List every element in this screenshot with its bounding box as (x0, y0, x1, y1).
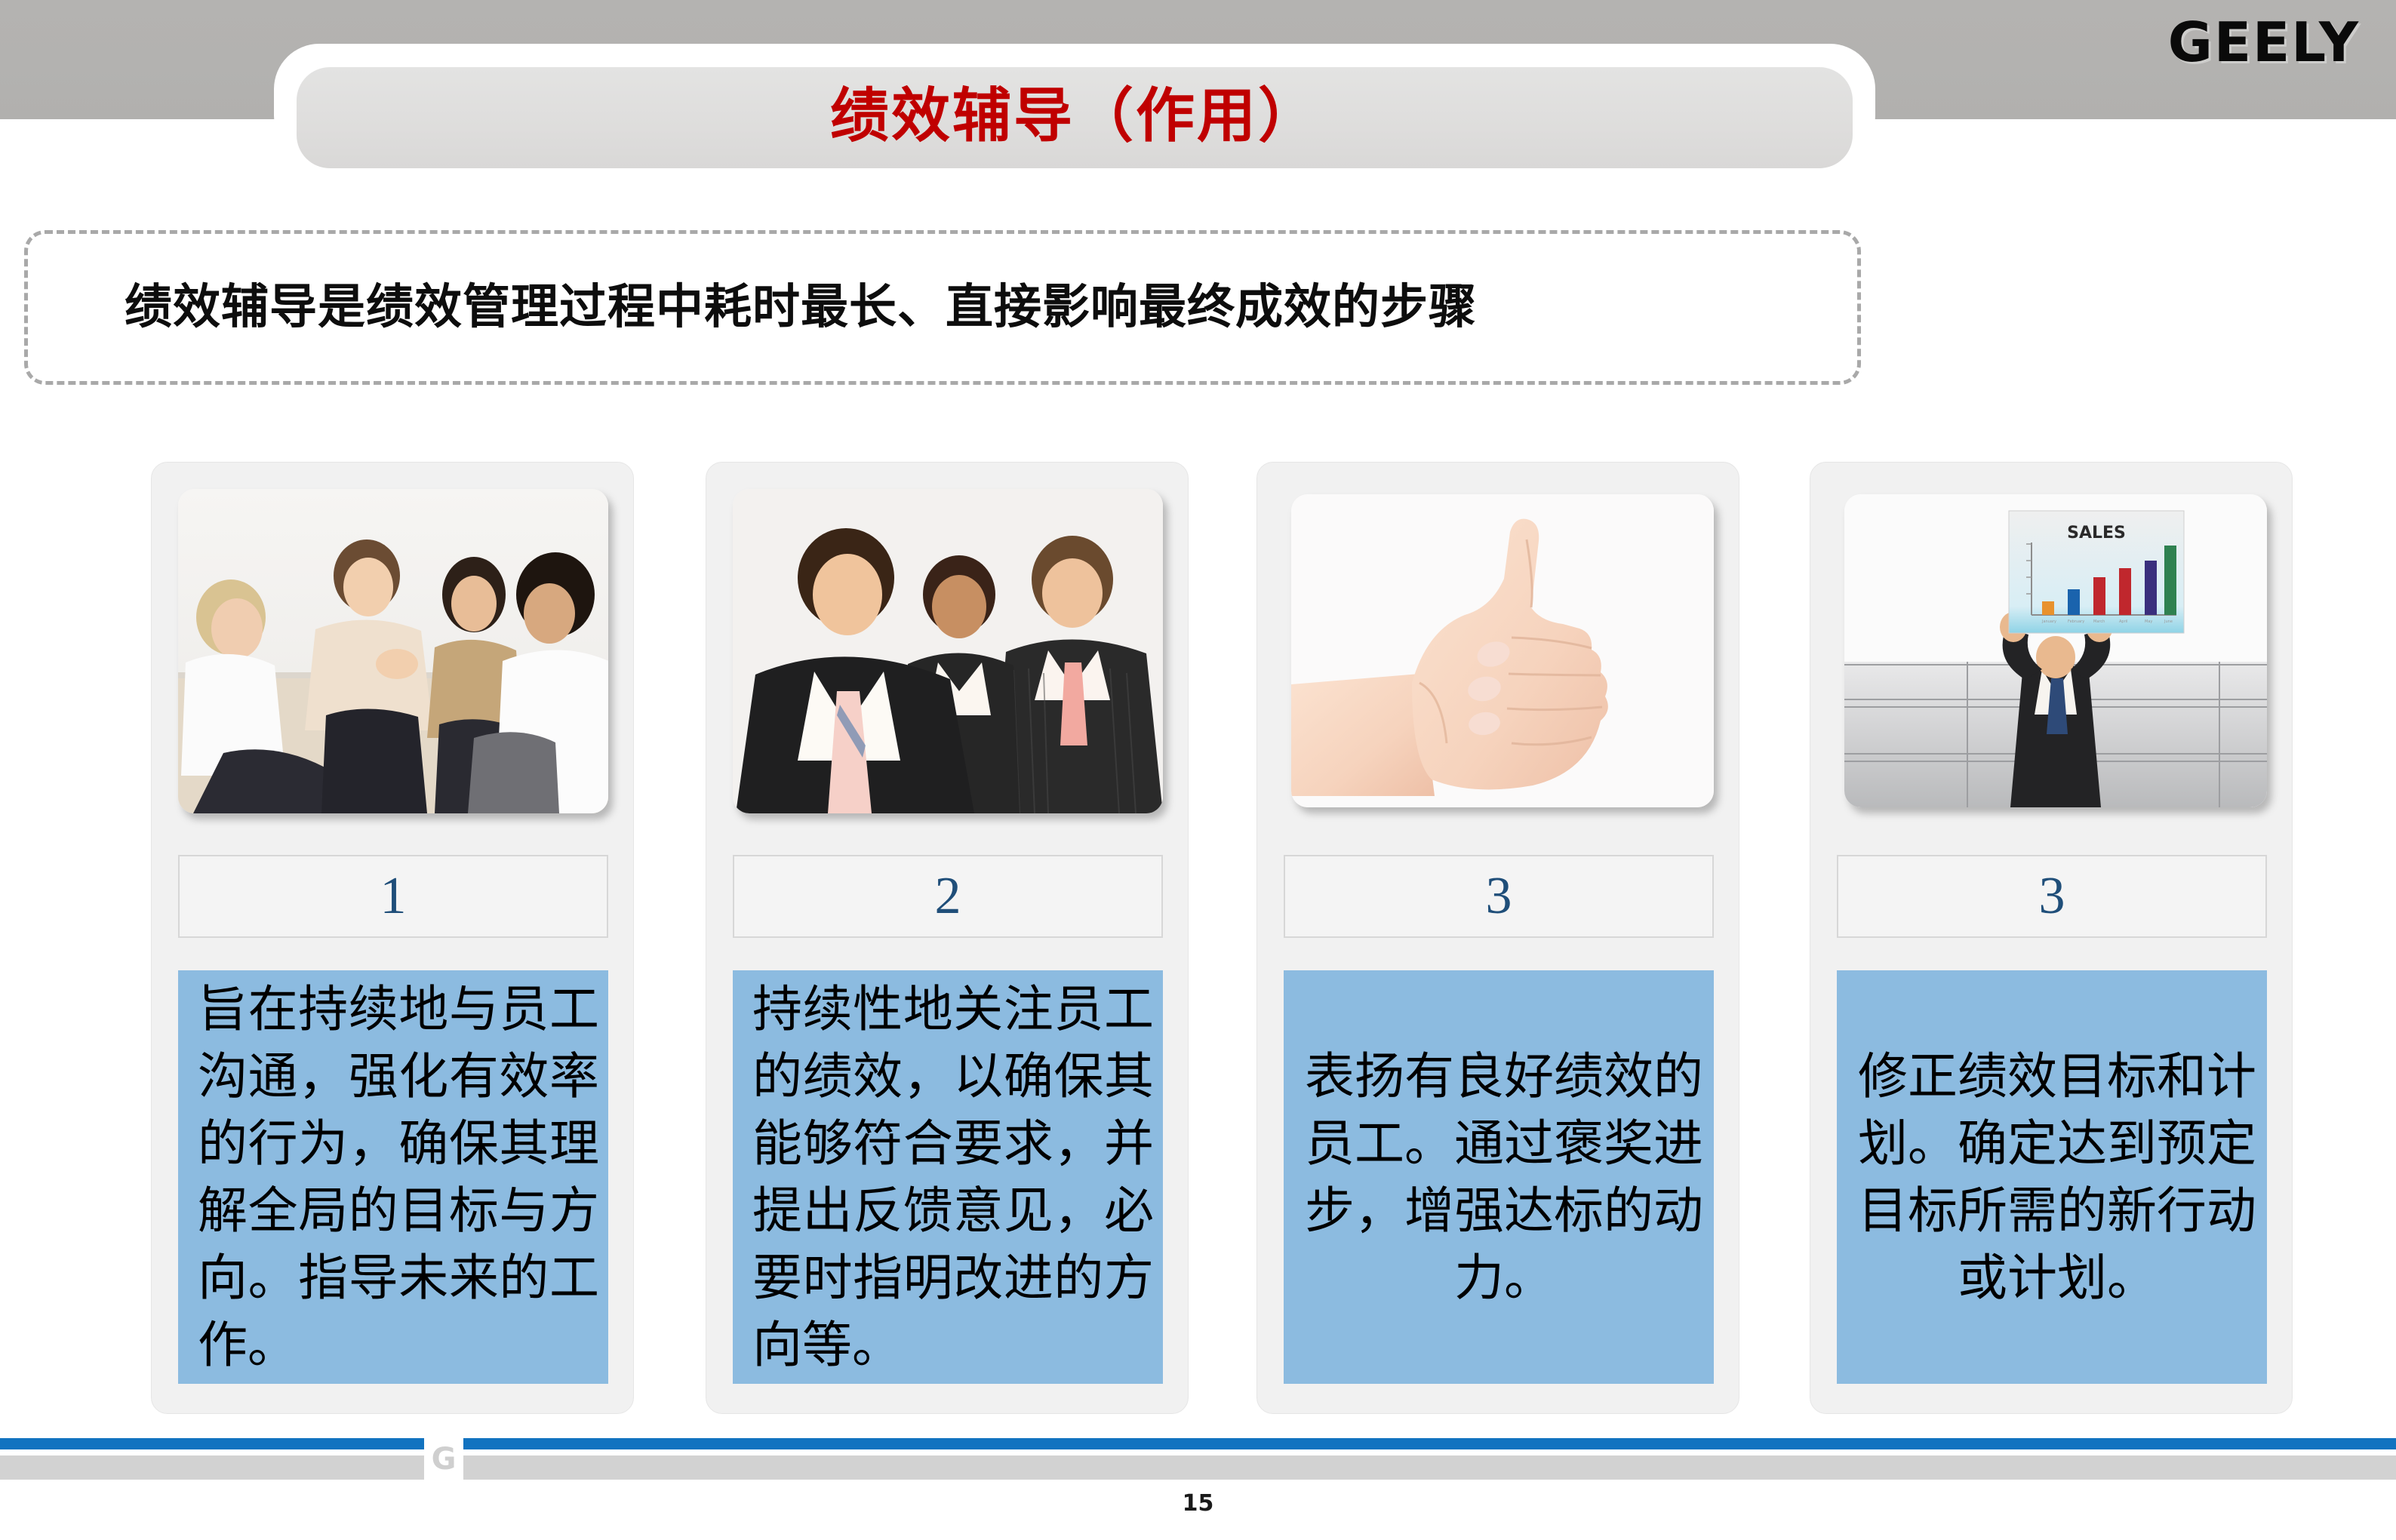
card-number: 3 (2039, 870, 2065, 923)
thumbs-up-photo (1291, 494, 1714, 807)
business-team-illustration (733, 489, 1163, 813)
footer-badge-letter: G (432, 1444, 457, 1474)
card-number-box: 3 (1837, 855, 2267, 938)
card-number-box: 2 (733, 855, 1163, 938)
business-team-photo (733, 489, 1163, 813)
card-2[interactable]: 2 持续性地关注员工的绩效，以确保其能够符合要求，并提出反馈意见，必要时指明改进… (706, 462, 1189, 1414)
card-row: 1 旨在持续地与员工沟通，强化有效率的行为，确保其理解全局的目标与方向。指导未来… (0, 462, 2396, 1414)
page-number: 15 (0, 1490, 2396, 1517)
card-body-box: 修正绩效目标和计划。确定达到预定目标所需的新行动或计划。 (1837, 970, 2267, 1384)
card-body-text: 持续性地关注员工的绩效，以确保其能够符合要求，并提出反馈意见，必要时指明改进的方… (742, 976, 1154, 1379)
card-number: 1 (380, 870, 407, 923)
card-body-box: 表扬有良好绩效的员工。通过褒奖进步，增强达标的动力。 (1284, 970, 1714, 1384)
svg-text:January: January (2041, 619, 2056, 624)
footer-gray-rule (0, 1455, 2396, 1480)
card-4[interactable]: SALES JanuaryFebruary MarchAp (1810, 462, 2293, 1414)
footer-g-badge: G (424, 1435, 463, 1480)
card-body-box: 旨在持续地与员工沟通，强化有效率的行为，确保其理解全局的目标与方向。指导未来的工… (178, 970, 608, 1384)
geely-logo: GEELY (2168, 15, 2360, 69)
card-3[interactable]: 3 表扬有良好绩效的员工。通过褒奖进步，增强达标的动力。 (1256, 462, 1739, 1414)
sales-chart-title: SALES (2067, 524, 2126, 543)
subtitle-callout: 绩效辅导是绩效管理过程中耗时最长、直接影响最终成效的步骤 (24, 230, 1861, 385)
page-title: 绩效辅导（作用） (830, 87, 1319, 146)
card-body-text: 表扬有良好绩效的员工。通过褒奖进步，增强达标的动力。 (1293, 1043, 1705, 1311)
card-body-text: 旨在持续地与员工沟通，强化有效率的行为，确保其理解全局的目标与方向。指导未来的工… (187, 976, 599, 1379)
svg-text:March: March (2093, 619, 2105, 624)
title-pill-inner: 绩效辅导（作用） (297, 67, 1853, 168)
card-number: 2 (935, 870, 961, 923)
sales-chart-presenter-photo: SALES JanuaryFebruary MarchAp (1844, 494, 2267, 807)
slide-canvas: GEELY 绩效辅导（作用） 绩效辅导是绩效管理过程中耗时最长、直接影响最终成效… (0, 0, 2396, 1540)
card-body-box: 持续性地关注员工的绩效，以确保其能够符合要求，并提出反馈意见，必要时指明改进的方… (733, 970, 1163, 1384)
svg-text:February: February (2068, 619, 2084, 624)
card-body-text: 修正绩效目标和计划。确定达到预定目标所需的新行动或计划。 (1846, 1043, 2258, 1311)
thumbs-up-illustration (1291, 494, 1714, 807)
card-number-box: 1 (178, 855, 608, 938)
svg-text:April: April (2119, 619, 2127, 624)
svg-text:May: May (2145, 619, 2152, 624)
card-number: 3 (1486, 870, 1512, 923)
footer-blue-rule (0, 1438, 2396, 1449)
group-discussion-photo (178, 489, 608, 813)
card-number-box: 3 (1284, 855, 1714, 938)
card-1[interactable]: 1 旨在持续地与员工沟通，强化有效率的行为，确保其理解全局的目标与方向。指导未来… (151, 462, 634, 1414)
subtitle-text: 绩效辅导是绩效管理过程中耗时最长、直接影响最终成效的步骤 (28, 280, 1477, 334)
group-discussion-illustration (178, 489, 608, 813)
sales-presenter-illustration: SALES JanuaryFebruary MarchAp (1844, 494, 2267, 807)
title-pill: 绩效辅导（作用） (274, 44, 1875, 161)
svg-text:June: June (2164, 619, 2173, 624)
